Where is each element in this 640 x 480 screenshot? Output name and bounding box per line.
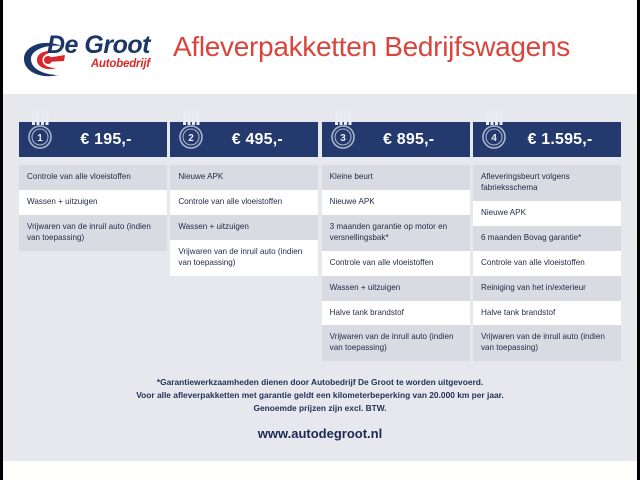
page-header: De Groot Autobedrijf Afleverpakketten Be… bbox=[3, 0, 637, 94]
package-header-1[interactable]: 1 € 195,- bbox=[19, 122, 167, 157]
medal-number-4: 4 bbox=[491, 133, 497, 144]
package-item: Wassen + uitzuigen bbox=[19, 190, 167, 215]
package-column-1: 1 € 195,- Controle van alle vloeistoffen… bbox=[19, 122, 167, 251]
package-item: Controle van alle vloeistoffen bbox=[170, 190, 318, 215]
package-item: Vrijwaren van de inruil auto (indien van… bbox=[322, 325, 470, 361]
medal-icon: 3 bbox=[330, 111, 356, 153]
package-item: Afleveringsbeurt volgens fabrieksschema bbox=[473, 165, 621, 201]
package-columns: 1 € 195,- Controle van alle vloeistoffen… bbox=[19, 122, 621, 361]
company-logo[interactable]: De Groot Autobedrijf bbox=[3, 0, 173, 94]
medal-icon: 2 bbox=[178, 111, 204, 153]
package-item: Kleine beurt bbox=[322, 165, 470, 190]
package-item: Wassen + uitzuigen bbox=[170, 215, 318, 240]
package-header-2[interactable]: 2 € 495,- bbox=[170, 122, 318, 157]
website-link[interactable]: www.autodegroot.nl bbox=[3, 426, 637, 441]
logo-wordmark: De Groot Autobedrijf bbox=[47, 33, 150, 71]
medal-number-1: 1 bbox=[37, 133, 43, 144]
footer-disclaimer: *Garantiewerkzaamheden dienen door Autob… bbox=[3, 376, 637, 415]
bottom-strip bbox=[3, 461, 637, 480]
package-price-1: € 195,- bbox=[54, 131, 131, 149]
package-column-4: 4 € 1.595,- Afleveringsbeurt volgens fab… bbox=[473, 122, 621, 361]
package-price-2: € 495,- bbox=[206, 131, 283, 149]
package-item: 6 maanden Bovag garantie* bbox=[473, 226, 621, 251]
footer-line: Voor alle afleverpakketten met garantie … bbox=[3, 389, 637, 402]
footer-line: Genoemde prijzen zijn excl. BTW. bbox=[3, 402, 637, 415]
package-item: Controle van alle vloeistoffen bbox=[473, 251, 621, 276]
page-title: Afleverpakketten Bedrijfswagens bbox=[173, 31, 570, 63]
package-header-3[interactable]: 3 € 895,- bbox=[322, 122, 470, 157]
medal-icon: 1 bbox=[27, 111, 53, 153]
package-item: Controle van alle vloeistoffen bbox=[19, 165, 167, 190]
footer-line: *Garantiewerkzaamheden dienen door Autob… bbox=[3, 376, 637, 389]
content-panel: 1 € 195,- Controle van alle vloeistoffen… bbox=[3, 94, 637, 461]
medal-icon: 4 bbox=[481, 111, 507, 153]
package-item: Reiniging van het in/exterieur bbox=[473, 276, 621, 301]
medal-number-3: 3 bbox=[340, 133, 346, 144]
medal-number-2: 2 bbox=[189, 133, 195, 144]
package-item: Vrijwaren van de inruil auto (indien van… bbox=[19, 215, 167, 251]
package-item: Nieuwe APK bbox=[473, 201, 621, 226]
package-item: Nieuwe APK bbox=[322, 190, 470, 215]
package-item: Vrijwaren van de inruil auto (indien van… bbox=[170, 240, 318, 276]
logo-name-sub: Autobedrijf bbox=[47, 59, 150, 71]
poster-page: De Groot Autobedrijf Afleverpakketten Be… bbox=[0, 0, 640, 480]
package-header-4[interactable]: 4 € 1.595,- bbox=[473, 122, 621, 157]
package-price-4: € 1.595,- bbox=[502, 131, 593, 149]
package-column-3: 3 € 895,- Kleine beurt Nieuwe APK 3 maan… bbox=[322, 122, 470, 361]
package-item: Vrijwaren van de inruil auto (indien van… bbox=[473, 325, 621, 361]
logo-name-main: De Groot bbox=[47, 33, 150, 58]
package-item: Controle van alle vloeistoffen bbox=[322, 251, 470, 276]
package-item: Halve tank brandstof bbox=[473, 301, 621, 326]
package-price-3: € 895,- bbox=[357, 131, 434, 149]
package-item: Halve tank brandstof bbox=[322, 301, 470, 326]
package-column-2: 2 € 495,- Nieuwe APK Controle van alle v… bbox=[170, 122, 318, 276]
package-item: 3 maanden garantie op motor en versnelli… bbox=[322, 215, 470, 251]
package-item: Nieuwe APK bbox=[170, 165, 318, 190]
package-item: Wassen + uitzuigen bbox=[322, 276, 470, 301]
